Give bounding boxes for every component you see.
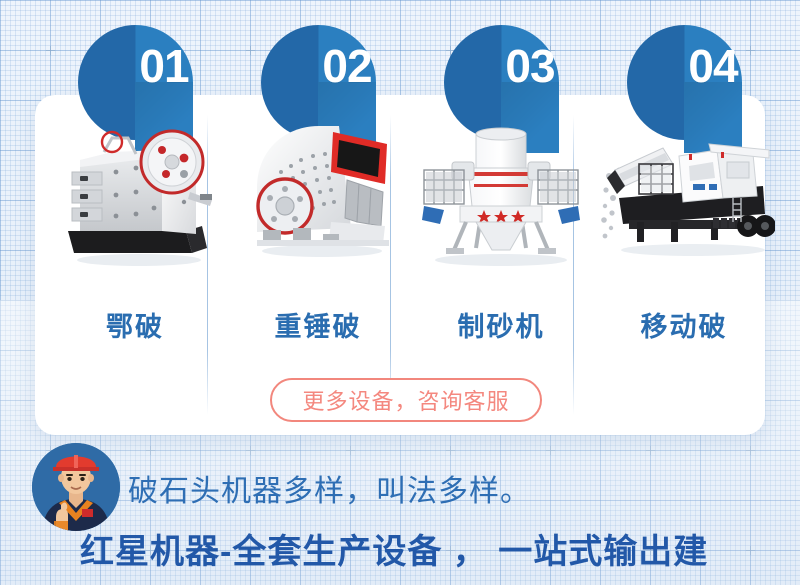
grid-tick — [246, 46, 255, 55]
product-label: 鄂破 — [44, 305, 226, 344]
badge-number: 02 — [318, 43, 376, 89]
product-cell-3[interactable]: 制砂机 — [410, 100, 592, 370]
headline-text: 红星机器-全套生产设备 ， 一站式输出建 — [80, 524, 708, 573]
hammer-crusher-image — [227, 110, 409, 280]
mobile-crusher-image — [593, 110, 775, 280]
grid-tick — [146, 446, 155, 455]
tagline-text: 破石头机器多样，叫法多样。 — [128, 466, 531, 510]
grid-tick — [746, 446, 755, 455]
grid-tick — [746, 546, 755, 555]
badge-number: 04 — [684, 43, 742, 89]
badge-number: 01 — [135, 43, 193, 89]
grid-tick — [46, 46, 55, 55]
grid-tick — [646, 446, 655, 455]
product-label: 制砂机 — [410, 305, 592, 344]
grid-tick — [46, 546, 55, 555]
product-cell-1[interactable]: 鄂破 — [44, 100, 226, 370]
product-cell-4[interactable]: 移动破 — [593, 100, 775, 370]
worker-avatar-icon — [32, 443, 120, 531]
grid-tick — [546, 446, 555, 455]
jaw-crusher-image — [44, 110, 226, 280]
grid-tick — [746, 46, 755, 55]
avatar — [32, 443, 120, 531]
product-label: 重锤破 — [227, 305, 409, 344]
contact-service-button[interactable]: 更多设备，咨询客服 — [270, 378, 542, 422]
grid-tick — [246, 446, 255, 455]
product-cell-2[interactable]: 重锤破 — [227, 100, 409, 370]
grid-tick — [446, 446, 455, 455]
page-canvas: 01 02 03 04 — [0, 0, 800, 585]
grid-tick — [346, 446, 355, 455]
badge-number: 03 — [501, 43, 559, 89]
product-label: 移动破 — [593, 305, 775, 344]
sand-making-machine-image — [410, 110, 592, 280]
